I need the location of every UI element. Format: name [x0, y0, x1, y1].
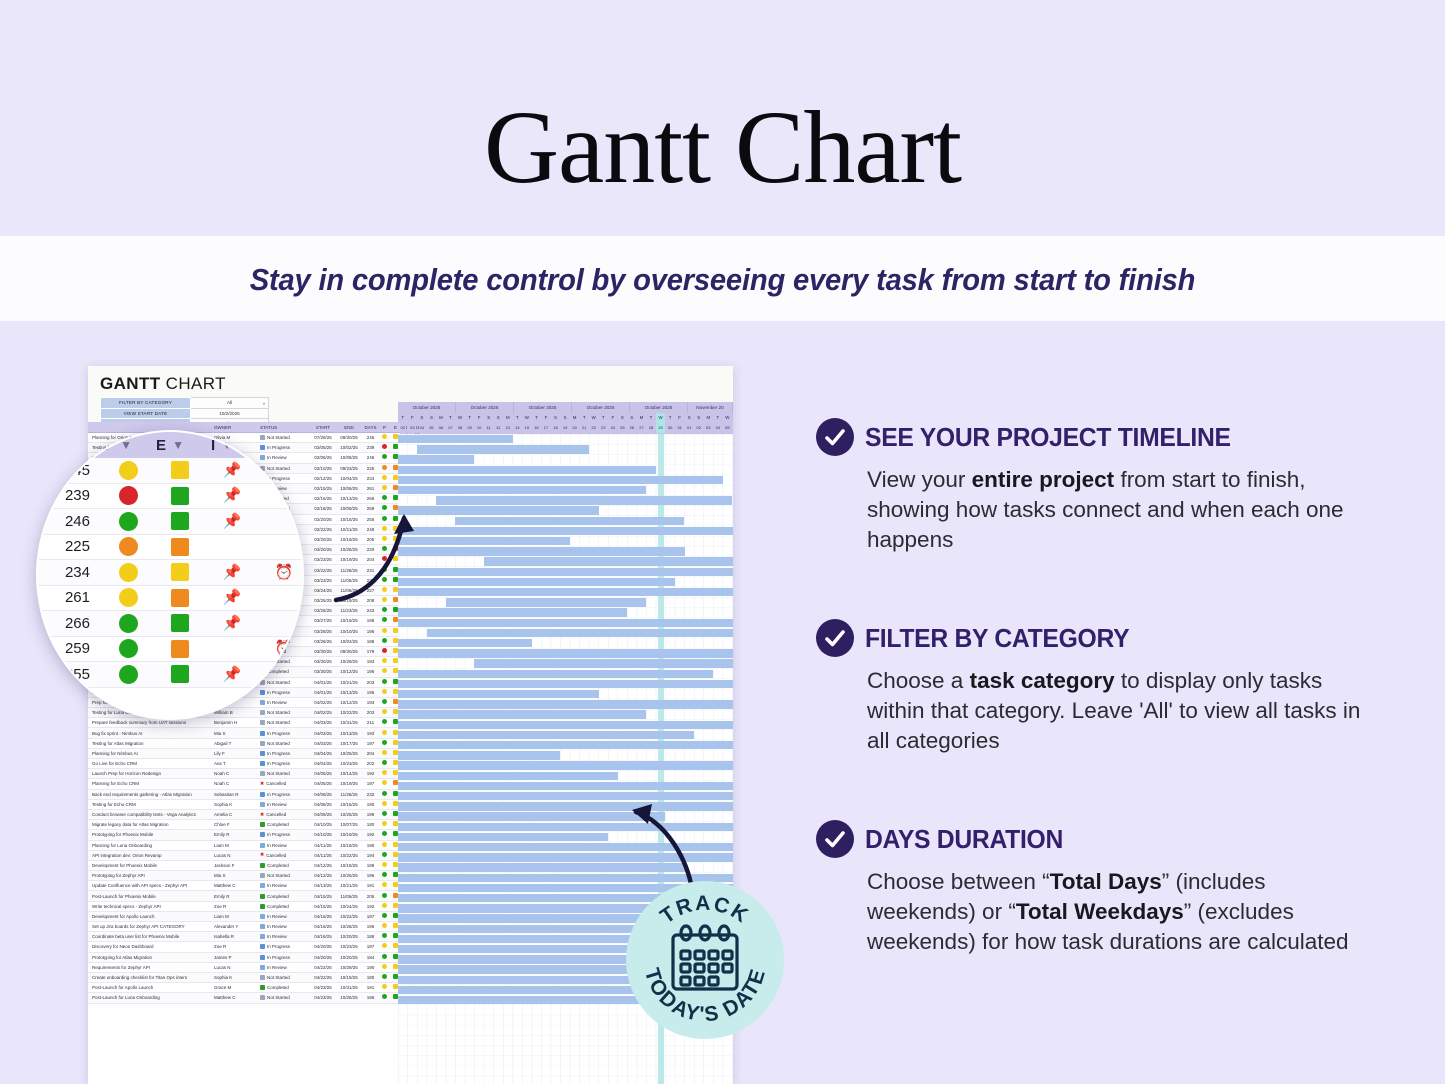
table-row[interactable]: API integration dev: Orion RevampLucas N… — [88, 851, 400, 861]
timeline-day-number: 19 — [560, 423, 570, 433]
cancel-icon: ✖ — [260, 852, 264, 858]
task-start: 02/05/25 — [310, 445, 336, 450]
timeline-day-number: 20 — [570, 423, 580, 433]
task-name: API integration dev: Orion Revamp — [88, 853, 214, 858]
priority-dot — [379, 719, 390, 726]
task-end: 10/29/25 — [336, 659, 362, 664]
filter-icon[interactable]: ▼ — [172, 438, 184, 452]
magnifier-priority-dot — [102, 486, 154, 505]
task-owner: Isabella R — [214, 934, 260, 939]
magnifier-effort-square — [154, 563, 206, 581]
timeline-dow: S — [627, 413, 637, 423]
magnifier-effort-square — [154, 640, 206, 658]
table-row[interactable]: Requirements for Zephyr APILucas NIn Rev… — [88, 963, 400, 973]
priority-dot — [379, 709, 390, 716]
timeline-day-number: 05 — [427, 423, 437, 433]
task-days: 188 — [362, 934, 379, 939]
timeline-dow: M — [436, 413, 446, 423]
task-start: 03/28/25 — [310, 629, 336, 634]
timeline-day-number: 30 — [665, 423, 675, 433]
timeline-day-number: 12 — [493, 423, 503, 433]
timeline-day-number: 18 — [551, 423, 561, 433]
table-row[interactable]: Write technical specs - Zephyr APIZoe RC… — [88, 902, 400, 912]
svg-text:TRACK: TRACK — [656, 892, 753, 929]
priority-dot — [379, 852, 390, 859]
timeline-header: October 2025October 2025October 2025Octo… — [398, 402, 733, 434]
chevron-down-icon[interactable]: ▾ — [263, 401, 265, 406]
status-swatch — [260, 843, 265, 848]
table-row[interactable]: Post-Launch for Phoenix MobileEmily RCom… — [88, 891, 400, 901]
task-start: 04/09/25 — [310, 812, 336, 817]
timeline-dow: S — [694, 413, 704, 423]
status-swatch — [260, 883, 265, 888]
task-start: 04/15/25 — [310, 904, 336, 909]
priority-dot — [379, 658, 390, 665]
task-status: In Progress — [260, 751, 310, 756]
task-start: 04/16/25 — [310, 924, 336, 929]
timeline-dow: F — [408, 413, 418, 423]
priority-dot — [379, 994, 390, 1001]
task-days: 193 — [362, 659, 379, 664]
task-days: 196 — [362, 629, 379, 634]
table-row[interactable]: Prototyping for Zephyr APIMia SNot Start… — [88, 871, 400, 881]
status-swatch — [260, 710, 265, 715]
feature-body: View your entire project from start to f… — [867, 465, 1367, 555]
filter-icon[interactable]: ▼ — [62, 438, 74, 452]
gantt-bar — [398, 639, 532, 647]
priority-dot — [379, 811, 390, 818]
gantt-bar — [398, 568, 733, 576]
task-end: 10/19/25 — [336, 781, 362, 786]
task-start: 04/16/25 — [310, 934, 336, 939]
status-swatch — [260, 751, 265, 756]
status-swatch — [260, 720, 265, 725]
task-end: 10/20/25 — [336, 934, 362, 939]
table-row[interactable]: Migrate legacy data for Atlas MigrationC… — [88, 820, 400, 830]
task-end: 10/25/25 — [336, 873, 362, 878]
task-status: Not Started — [260, 771, 310, 776]
table-row[interactable]: Testing for Echo CRMSophia KIn Review04/… — [88, 800, 400, 810]
timeline-day-letters: TFSSMTWTFSSMTWTFSSMTWTFSSMTWTFSSMTWTFSSM — [398, 413, 733, 423]
priority-dot — [379, 617, 390, 624]
gantt-bar — [484, 557, 733, 565]
task-status: Not Started — [260, 720, 310, 725]
timeline-dow: M — [704, 413, 714, 423]
timeline-day-number: 14 — [513, 423, 523, 433]
magnifier-days-value: 246 — [46, 513, 102, 530]
magnifier-row: 261📌 — [38, 586, 302, 612]
task-start: 02/06/25 — [310, 455, 336, 460]
table-row[interactable]: Go Live for Echo CRMAva TIn Progress04/0… — [88, 759, 400, 769]
timeline-dow: T — [646, 413, 656, 423]
task-start: 04/13/25 — [310, 883, 336, 888]
magnifier-row: 259⏰ — [38, 637, 302, 663]
priority-dot — [379, 485, 390, 492]
timeline-day-number: 09 — [465, 423, 475, 433]
priority-dot — [379, 831, 390, 838]
task-status: In Progress — [260, 690, 310, 695]
calendar-icon — [673, 926, 737, 989]
task-days: 180 — [362, 975, 379, 980]
task-status: Completed — [260, 822, 310, 827]
magnifier-col-e[interactable]: E▼ — [144, 437, 196, 454]
timeline-months: October 2025October 2025October 2025Octo… — [398, 402, 733, 413]
timeline-dow: M — [637, 413, 647, 423]
priority-dot — [379, 791, 390, 798]
task-start: 04/02/25 — [310, 710, 336, 715]
task-name: Write technical specs - Zephyr API — [88, 904, 214, 909]
task-table-header: OWNERSTATUSSTARTENDDAYSPEIU — [88, 422, 400, 433]
timeline-day-number: 29 — [656, 423, 666, 433]
column-header[interactable]: STATUS — [260, 425, 310, 430]
task-days: 204 — [362, 751, 379, 756]
task-end: 10/02/25 — [336, 445, 362, 450]
timeline-month-label: November 20 — [688, 402, 733, 413]
magnifier-priority-dot — [102, 614, 154, 633]
timeline-day-number: 13 — [503, 423, 513, 433]
task-owner: Noah C — [214, 781, 260, 786]
timeline-dow: T — [579, 413, 589, 423]
table-row[interactable]: Discovery for Neon DashboardZoe RIn Prog… — [88, 942, 400, 952]
filter-icon[interactable]: ▼ — [120, 438, 132, 452]
task-start: 04/15/25 — [310, 894, 336, 899]
magnifier-effort-square — [154, 487, 206, 505]
task-status: In Review — [260, 455, 310, 460]
task-name: Create onboarding checklist for Titan Op… — [88, 975, 214, 980]
task-end: 10/21/25 — [336, 680, 362, 685]
status-swatch — [260, 802, 265, 807]
timeline-day-number: 27 — [637, 423, 647, 433]
priority-dot — [379, 648, 390, 655]
task-end: 10/21/25 — [336, 883, 362, 888]
task-owner: Benjamin H — [214, 720, 260, 725]
priority-dot — [379, 454, 390, 461]
task-name: Set up Jira boards for Zephyr API CATEGO… — [88, 924, 214, 929]
task-start: 04/20/25 — [310, 944, 336, 949]
column-header[interactable]: END — [336, 425, 362, 430]
status-swatch — [260, 965, 265, 970]
task-start: 03/30/25 — [310, 649, 336, 654]
task-end: 10/22/25 — [336, 710, 362, 715]
task-days: 197 — [362, 741, 379, 746]
task-days: 211 — [362, 720, 379, 725]
magnifier-effort-square — [154, 589, 206, 607]
sheet-title-bold: GANTT — [100, 374, 161, 393]
gantt-bar — [398, 751, 560, 759]
task-name: Back end requirements gathering - Atlas … — [88, 792, 214, 797]
task-owner: William B — [214, 710, 260, 715]
column-header[interactable]: I — [401, 425, 412, 430]
column-header[interactable]: E — [390, 425, 401, 430]
task-name: Conduct browser compatibility tests - Ve… — [88, 812, 214, 817]
task-days: 245 — [362, 435, 379, 440]
task-end: 10/04/25 — [336, 476, 362, 481]
pushpin-icon: 📌 — [206, 565, 258, 580]
task-end: 10/19/25 — [336, 832, 362, 837]
filter-control-row[interactable]: VIEW START DATE10/2/2025 — [101, 408, 269, 419]
task-days: 246 — [362, 455, 379, 460]
feature-title: DAYS DURATION — [865, 824, 1063, 855]
task-days: 187 — [362, 914, 379, 919]
task-start: 04/23/25 — [310, 995, 336, 1000]
filter-icon[interactable]: ▼ — [276, 438, 288, 452]
table-row[interactable]: Bug fix sprint - Nimbus AIMia SIn Progre… — [88, 728, 400, 738]
task-owner: Chloe F — [214, 822, 260, 827]
magnifier-priority-dot — [102, 461, 154, 480]
status-swatch — [260, 914, 265, 919]
table-row[interactable]: Set up Jira boards for Zephyr API CATEGO… — [88, 922, 400, 932]
task-days: 196 — [362, 873, 379, 878]
timeline-dow: W — [723, 413, 733, 423]
table-row[interactable]: Development for Phoenix MobileJackson FC… — [88, 861, 400, 871]
filter-icon[interactable]: ▼ — [221, 438, 233, 452]
task-end: 09/30/25 — [336, 435, 362, 440]
timeline-day-number: 25 — [618, 423, 628, 433]
task-name: Discovery for Neon Dashboard — [88, 944, 214, 949]
priority-dot — [379, 740, 390, 747]
column-header[interactable]: DAYS — [362, 425, 379, 430]
feature-block-2: FILTER BY CATEGORYChoose a task category… — [816, 619, 1396, 756]
timeline-dow: F — [608, 413, 618, 423]
task-owner: Sophia K — [214, 975, 260, 980]
task-end: 10/23/25 — [336, 944, 362, 949]
task-start: 04/05/25 — [310, 781, 336, 786]
status-swatch — [260, 832, 265, 837]
status-swatch — [260, 731, 265, 736]
task-start: 04/03/25 — [310, 741, 336, 746]
task-days: 187 — [362, 944, 379, 949]
feature-title: FILTER BY CATEGORY — [865, 623, 1129, 654]
feature-body: Choose between “Total Days” (includes we… — [867, 867, 1367, 957]
task-end: 10/07/25 — [336, 822, 362, 827]
task-end: 10/17/25 — [336, 741, 362, 746]
status-swatch — [260, 741, 265, 746]
status-swatch — [260, 863, 265, 868]
table-row[interactable]: Prototyping for Phoenix MobileEmily RIn … — [88, 830, 400, 840]
pushpin-icon: 📌 — [206, 463, 258, 478]
table-row[interactable]: Prototyping for Atlas MigrationJames PIn… — [88, 953, 400, 963]
magnifier-days-value: 261 — [46, 589, 102, 606]
timeline-dow: T — [732, 413, 733, 423]
timeline-dow: M — [570, 413, 580, 423]
timeline-dow: T — [532, 413, 542, 423]
task-status: In Review — [260, 700, 310, 705]
priority-dot — [379, 770, 390, 777]
task-days: 243 — [362, 608, 379, 613]
gantt-bar — [455, 517, 684, 525]
column-header[interactable]: P — [379, 425, 390, 430]
task-status: In Review — [260, 924, 310, 929]
table-row[interactable]: Post-Launch for Luna OnboardingMatthew C… — [88, 993, 400, 1003]
task-name: Update Confluence with API specs - Zephy… — [88, 883, 214, 888]
gantt-bar — [398, 833, 608, 841]
timeline-day-number: 22 — [589, 423, 599, 433]
priority-dot — [379, 668, 390, 675]
task-status: In Progress — [260, 731, 310, 736]
timeline-day-number: 11 — [484, 423, 494, 433]
status-swatch — [260, 894, 265, 899]
task-end: 10/15/25 — [336, 802, 362, 807]
task-start: 04/02/25 — [310, 700, 336, 705]
priority-dot — [379, 801, 390, 808]
task-start: 04/22/25 — [310, 975, 336, 980]
task-status: Not Started — [260, 741, 310, 746]
gantt-bar — [398, 476, 723, 484]
gantt-bar — [417, 445, 589, 453]
control-value[interactable]: All▾ — [191, 398, 269, 409]
timeline-dow: T — [713, 413, 723, 423]
task-start: 03/30/25 — [310, 669, 336, 674]
column-header[interactable]: OWNER — [214, 425, 260, 430]
task-status: Not Started — [260, 995, 310, 1000]
magnifier-row: 239📌 — [38, 484, 302, 510]
table-row[interactable]: Create onboarding checklist for Titan Op… — [88, 973, 400, 983]
task-start: 04/11/25 — [310, 853, 336, 858]
track-todays-date-badge: TRACK TODAY'S DATE — [626, 881, 784, 1039]
gantt-bar — [398, 527, 733, 535]
task-status: In Progress — [260, 832, 310, 837]
task-name: Planning for Echo CRM — [88, 781, 214, 786]
task-status: In Review — [260, 934, 310, 939]
task-name: Coordinate beta user list for Phoenix Mo… — [88, 934, 214, 939]
timeline-dow: S — [493, 413, 503, 423]
feature-block-1: SEE YOUR PROJECT TIMELINEView your entir… — [816, 418, 1396, 555]
timeline-day-number: 06 — [732, 423, 733, 433]
task-days: 261 — [362, 486, 379, 491]
feature-block-3: DAYS DURATIONChoose between “Total Days”… — [816, 820, 1396, 957]
priority-dot — [379, 699, 390, 706]
gantt-bar — [398, 588, 733, 596]
task-owner: Noah C — [214, 771, 260, 776]
table-row[interactable]: Conduct browser compatibility tests - Ve… — [88, 810, 400, 820]
gantt-bar — [398, 506, 599, 514]
gantt-bar — [398, 782, 733, 790]
task-end: 11/26/25 — [336, 792, 362, 797]
pushpin-icon: 📌 — [206, 514, 258, 529]
gantt-bar — [398, 710, 646, 718]
task-name: Post-Launch for Luna Onboarding — [88, 995, 214, 1000]
task-owner: Liam M — [214, 843, 260, 848]
timeline-day-number: 07 — [446, 423, 456, 433]
task-status: Completed — [260, 863, 310, 868]
timeline-day-number: 01 — [684, 423, 694, 433]
table-row[interactable]: Update Confluence with API specs - Zephy… — [88, 881, 400, 891]
check-circle-icon — [816, 619, 854, 657]
table-row[interactable]: Launch Prep for Horizon RedesignNoah CNo… — [88, 769, 400, 779]
task-owner: Emily R — [214, 832, 260, 837]
task-status: In Review — [260, 914, 310, 919]
magnifier-row: 225 — [38, 535, 302, 561]
table-row[interactable]: Post-Launch for Apollo LaunchGrace MComp… — [88, 983, 400, 993]
task-start: 04/10/25 — [310, 832, 336, 837]
filter-control-row[interactable]: FILTER BY CATEGORYAll▾ — [101, 398, 269, 409]
timeline-day-number: 04 — [713, 423, 723, 433]
timeline-dow: S — [684, 413, 694, 423]
task-owner: Mia S — [214, 873, 260, 878]
task-end: 10/20/25 — [336, 955, 362, 960]
task-start: 04/08/25 — [310, 792, 336, 797]
control-value[interactable]: 10/2/2025 — [191, 408, 269, 419]
task-start: 04/10/25 — [310, 822, 336, 827]
task-end: 10/18/25 — [336, 863, 362, 868]
task-end: 10/12/25 — [336, 669, 362, 674]
task-days: 225 — [362, 466, 379, 471]
status-swatch — [260, 822, 265, 827]
task-owner: Zoe R — [214, 904, 260, 909]
status-swatch — [260, 445, 265, 450]
priority-dot — [379, 689, 390, 696]
status-swatch — [260, 771, 265, 776]
task-owner: Abigail T — [214, 741, 260, 746]
status-swatch — [260, 995, 265, 1000]
task-days: 196 — [362, 669, 379, 674]
status-swatch — [260, 934, 265, 939]
task-name: Migrate legacy data for Atlas Migration — [88, 822, 214, 827]
feature-list: SEE YOUR PROJECT TIMELINEView your entir… — [816, 418, 1396, 1021]
priority-dot — [379, 730, 390, 737]
gantt-bar — [398, 772, 618, 780]
task-start: 04/11/25 — [310, 843, 336, 848]
task-status: Not Started — [260, 680, 310, 685]
priority-dot — [379, 607, 390, 614]
task-name: Development for Apollo Launch — [88, 914, 214, 919]
table-row[interactable]: Planning for Echo CRMNoah C✖Cancelled04/… — [88, 779, 400, 789]
task-owner: James P — [214, 955, 260, 960]
task-name: Post-Launch for Phoenix Mobile — [88, 894, 214, 899]
table-row[interactable]: Development for Apollo LaunchLiam MIn Re… — [88, 912, 400, 922]
table-row[interactable]: Back end requirements gathering - Atlas … — [88, 790, 400, 800]
magnifier-effort-square — [154, 665, 206, 683]
task-status: In Review — [260, 965, 310, 970]
column-header[interactable]: START — [310, 425, 336, 430]
task-status: Completed — [260, 904, 310, 909]
task-days: 202 — [362, 761, 379, 766]
control-label: VIEW START DATE — [101, 408, 191, 419]
task-end: 11/06/25 — [336, 894, 362, 899]
task-start: 03/27/25 — [310, 618, 336, 623]
pushpin-icon: 📌 — [206, 667, 258, 682]
magnifier-effort-square — [154, 614, 206, 632]
timeline-dow: S — [484, 413, 494, 423]
task-owner: Zoe R — [214, 944, 260, 949]
task-days: 232 — [362, 792, 379, 797]
magnifier-priority-dot — [102, 639, 154, 658]
task-days: 179 — [362, 649, 379, 654]
status-swatch — [260, 975, 265, 980]
gantt-bar — [398, 680, 733, 688]
gantt-bar — [398, 670, 713, 678]
task-start: 04/15/25 — [310, 914, 336, 919]
task-days: 191 — [362, 883, 379, 888]
table-row[interactable]: Planning for Luna OnboardingLiam MIn Rev… — [88, 841, 400, 851]
task-days: 193 — [362, 700, 379, 705]
task-status: ✖Cancelled — [260, 852, 310, 858]
task-name: Prepare feedback summary from UAT sessio… — [88, 720, 214, 725]
timeline-dow: S — [560, 413, 570, 423]
table-row[interactable]: Prepare feedback summary from UAT sessio… — [88, 718, 400, 728]
task-end: 10/25/25 — [336, 751, 362, 756]
table-row[interactable]: Testing for Atlas MigrationAbigail TNot … — [88, 739, 400, 749]
priority-dot — [379, 750, 390, 757]
task-name: Prototyping for Phoenix Mobile — [88, 832, 214, 837]
task-status: In Review — [260, 802, 310, 807]
table-row[interactable]: Coordinate beta user list for Phoenix Mo… — [88, 932, 400, 942]
task-owner: Lucas N — [214, 965, 260, 970]
task-end: 10/29/25 — [336, 965, 362, 970]
column-header[interactable]: U — [412, 425, 423, 430]
timeline-day-number: 03 — [704, 423, 714, 433]
table-row[interactable]: Planning for Nimbus AILily FIn Progress0… — [88, 749, 400, 759]
